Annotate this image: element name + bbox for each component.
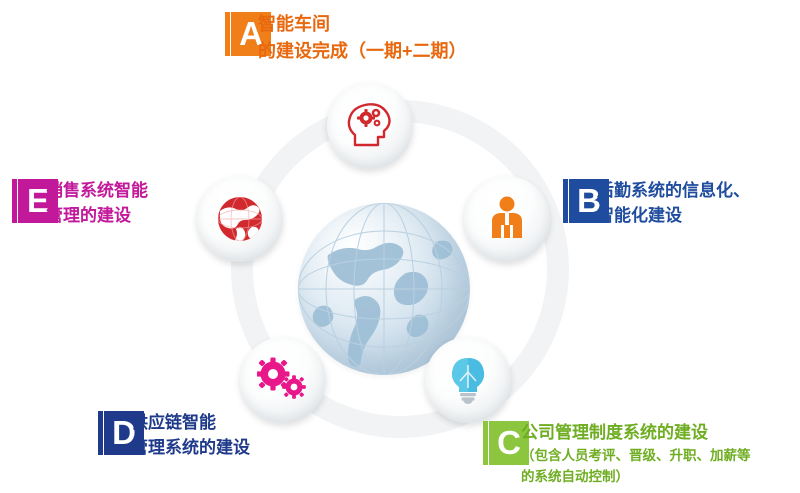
label-b-line2: 智能化建设: [597, 203, 750, 228]
label-e-line2: 管理的建设: [46, 203, 148, 228]
label-d-line1: 供应链智能: [131, 410, 250, 435]
globe-red-icon: [216, 195, 264, 243]
label-e: 销售系统智能 管理的建设: [46, 178, 148, 228]
label-a-line2: 的建设完成（一期+二期）: [258, 38, 467, 65]
label-e-line1: 销售系统智能: [46, 178, 148, 203]
label-c: 公司管理制度系统的建设 （包含人员考评、晋级、升职、加薪等 的系统自动控制）: [521, 420, 751, 487]
label-c-line1: 公司管理制度系统的建设: [521, 420, 751, 445]
label-a-line1: 智能车间: [258, 11, 467, 38]
node-a-bubble[interactable]: [327, 83, 413, 169]
head-with-gears-icon: [344, 100, 396, 152]
node-b-bubble[interactable]: [464, 176, 550, 262]
diagram-canvas: A B C D E 智能车间 的建设完成（一期+二期） 后勤系统的信息化、 智能…: [0, 0, 800, 493]
label-c-sub2: 的系统自动控制）: [521, 466, 751, 487]
label-d-line2: 管理系统的建设: [131, 435, 250, 460]
label-b-line1: 后勤系统的信息化、: [597, 178, 750, 203]
node-c-bubble[interactable]: [425, 337, 511, 423]
node-d-bubble[interactable]: [240, 337, 326, 423]
label-c-sub1: （包含人员考评、晋级、升职、加薪等: [521, 445, 751, 466]
person-icon: [482, 194, 532, 244]
node-e-bubble[interactable]: [197, 176, 283, 262]
lightbulb-icon: [446, 355, 490, 405]
label-b: 后勤系统的信息化、 智能化建设: [597, 178, 750, 228]
gears-icon: [257, 357, 309, 403]
label-d: 供应链智能 管理系统的建设: [131, 410, 250, 460]
label-a: 智能车间 的建设完成（一期+二期）: [258, 11, 467, 65]
